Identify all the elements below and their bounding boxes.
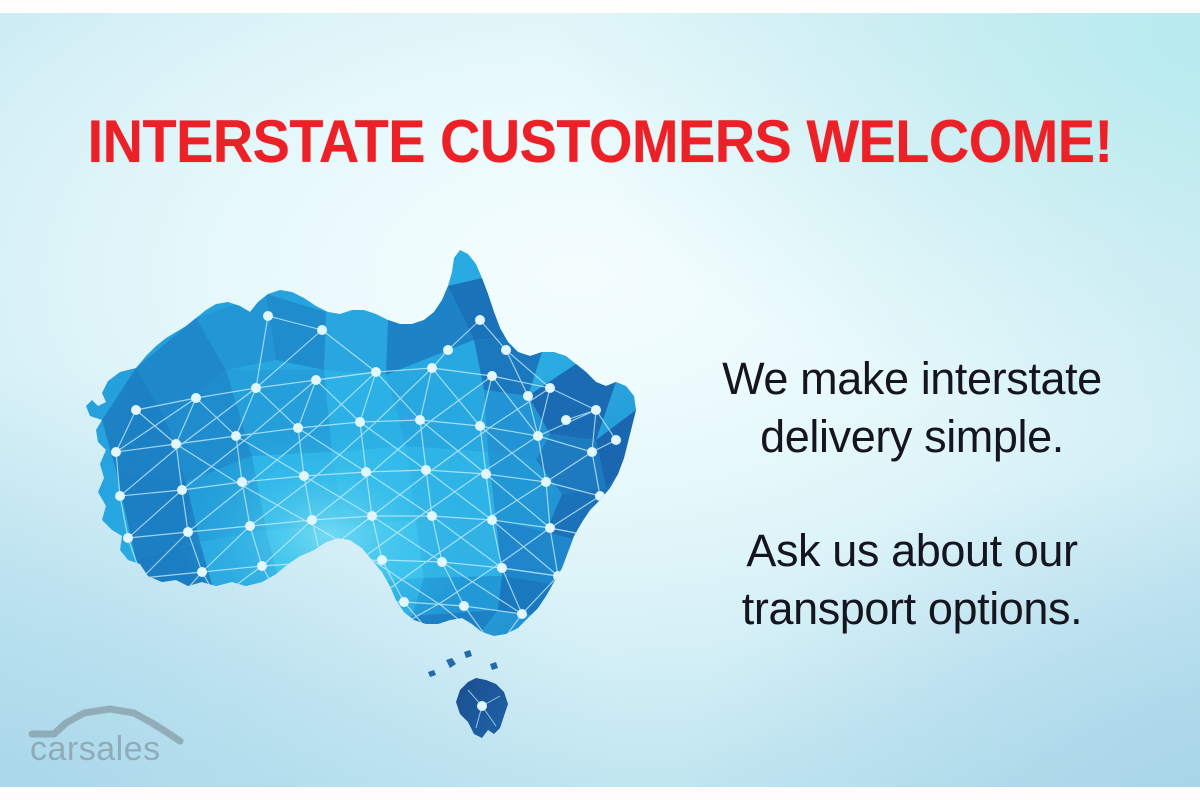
australia-map [76, 220, 656, 745]
carsales-wordmark: carsales [30, 730, 161, 765]
copy-line-2: delivery simple. [668, 408, 1156, 466]
marketing-copy: We make interstate delivery simple. Ask … [668, 350, 1156, 638]
letterbox-strip-top [0, 0, 1200, 13]
headline-text: INTERSTATE CUSTOMERS WELCOME! [87, 110, 1112, 174]
copy-line-4: transport options. [668, 580, 1156, 638]
copy-spacer [668, 466, 1156, 522]
banner-canvas: INTERSTATE CUSTOMERS WELCOME! [0, 13, 1200, 787]
letterbox-strip-bottom [0, 787, 1200, 800]
copy-line-3: Ask us about our [668, 522, 1156, 580]
headline: INTERSTATE CUSTOMERS WELCOME! [0, 110, 1200, 174]
carsales-watermark: carsales [28, 703, 198, 765]
map-tasmania [456, 678, 508, 738]
map-islands [428, 650, 498, 677]
copy-line-1: We make interstate [668, 350, 1156, 408]
map-mainland [76, 220, 656, 745]
banner-image: INTERSTATE CUSTOMERS WELCOME! [0, 0, 1200, 800]
